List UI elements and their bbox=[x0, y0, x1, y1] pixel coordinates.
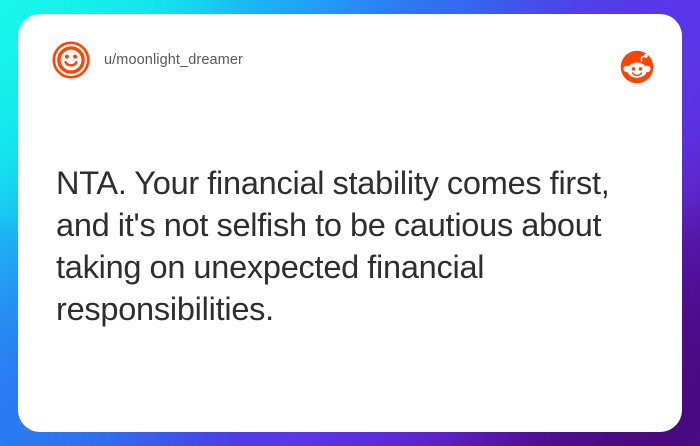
author-block[interactable]: u/moonlight_dreamer bbox=[52, 41, 243, 79]
quote-card: u/moonlight_dreamer NTA. Your finan bbox=[18, 14, 682, 432]
gradient-frame: u/moonlight_dreamer NTA. Your finan bbox=[0, 0, 700, 446]
reddit-snoo-icon[interactable] bbox=[620, 50, 654, 84]
card-header: u/moonlight_dreamer bbox=[18, 14, 682, 106]
quote-text: NTA. Your financial stability comes firs… bbox=[56, 162, 656, 330]
quote-body: NTA. Your financial stability comes firs… bbox=[56, 162, 656, 330]
author-username: u/moonlight_dreamer bbox=[104, 52, 243, 68]
smiley-face-circle-icon bbox=[52, 41, 90, 79]
